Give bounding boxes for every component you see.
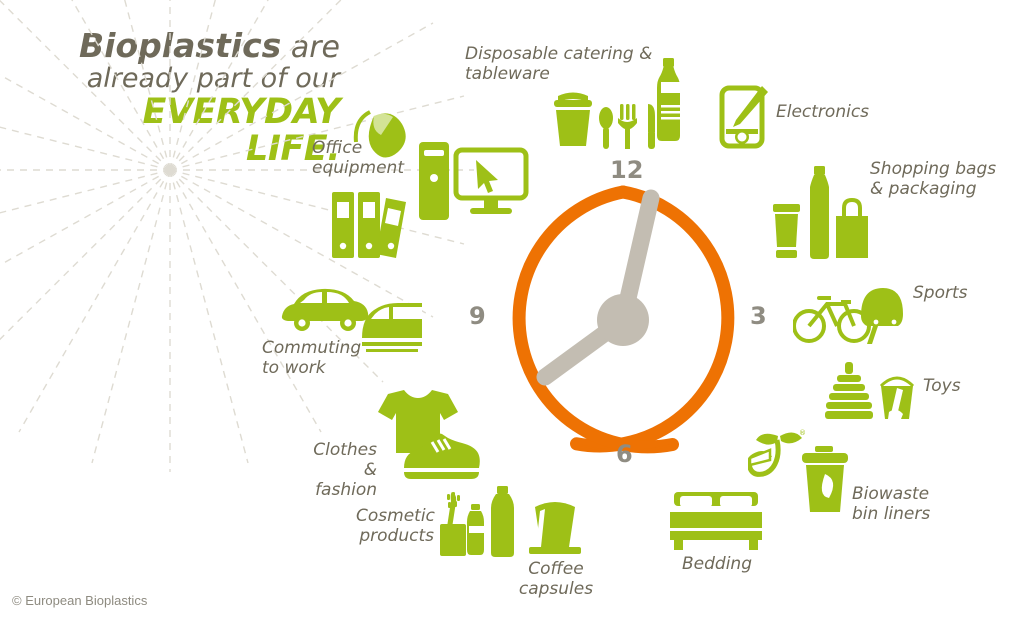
clock-numeral-6: 6 [616, 440, 633, 468]
item-label-toys: Toys [923, 376, 1024, 396]
cosmetic-bottle-icon [491, 486, 514, 557]
pc-tower-icon [417, 140, 451, 222]
spoon-icon [599, 107, 613, 149]
svg-text:®: ® [799, 429, 806, 437]
item-label-biowaste-bin-liners: Biowaste bin liners [852, 484, 992, 524]
clock-numeral-12: 12 [610, 156, 643, 184]
bed-icon [670, 490, 762, 552]
item-label-bedding: Bedding [660, 554, 774, 574]
stacking-rings-icon [825, 362, 873, 419]
item-label-coffee-capsules: Coffee capsules [495, 559, 617, 599]
cream-tube-icon [467, 504, 484, 555]
item-label-shopping-bags: Shopping bags & packaging [870, 159, 1024, 199]
bottle-icon [810, 166, 829, 259]
toys-icons-group [825, 362, 917, 420]
cup-icon [554, 93, 592, 147]
shopping-bag-icon [836, 200, 868, 258]
knife-icon [648, 104, 655, 149]
item-label-cosmetic-products: Cosmetic products [356, 506, 434, 546]
item-label-electronics: Electronics [776, 102, 906, 122]
tube-icon [773, 204, 800, 258]
bucket-spade-icon [881, 378, 913, 420]
clothes-icons-group [360, 388, 480, 484]
bicycle-icon [794, 298, 869, 341]
copyright-notice: © European Bioplastics [12, 593, 147, 608]
toothbrush-cup-icon [440, 492, 466, 556]
smartphone-stylus-icon [718, 84, 772, 152]
bottle-icon [657, 58, 680, 141]
clock-numeral-9: 9 [469, 302, 486, 330]
mouse-icon [352, 102, 422, 162]
clock-numeral-3: 3 [750, 302, 767, 330]
binders-icon [330, 188, 408, 260]
item-label-sports: Sports [913, 283, 1023, 303]
sports-icons-group [793, 284, 903, 346]
packaging-icons-group [770, 166, 868, 261]
bin-leaf-icon [798, 446, 852, 514]
infographic-canvas: Bioplastics are already part of our EVER… [0, 0, 1024, 622]
commuting-icons-group [280, 276, 424, 354]
train-icon [362, 303, 422, 352]
catering-icons-group [550, 58, 680, 150]
capsule-icon [523, 495, 587, 557]
cosmetics-icons-group [438, 486, 518, 558]
fork-icon [618, 104, 637, 149]
clock-center-hub [597, 294, 649, 346]
car-icon [282, 289, 368, 331]
monitor-cursor-icon [452, 146, 530, 218]
